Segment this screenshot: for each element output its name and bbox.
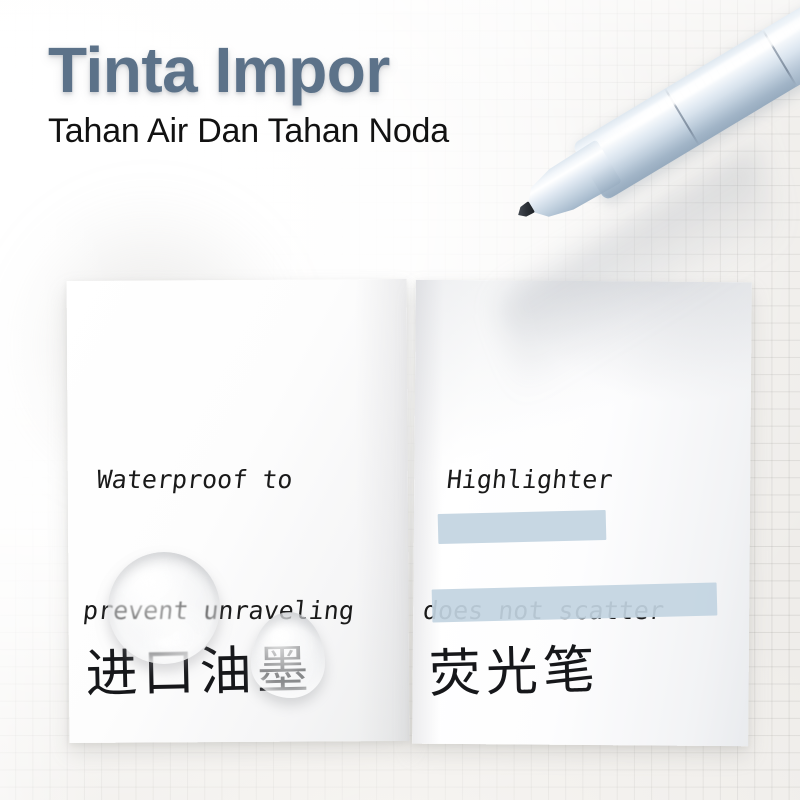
pen-tip <box>515 201 535 220</box>
pen-seam-ring-back <box>762 29 798 87</box>
pen-barrel <box>572 0 800 201</box>
pen-underside-shading <box>590 0 800 201</box>
pen-gloss-highlight <box>586 0 800 155</box>
right-page-chinese-line-1: 荧光笔 <box>428 631 715 713</box>
left-page-chinese-text: 进口油墨 防水防晕染 <box>82 485 379 800</box>
pen-grip-section <box>762 0 800 87</box>
headline-block: Tinta Impor Tahan Air Dan Tahan Noda <box>48 38 449 148</box>
pen-cone <box>514 139 622 231</box>
product-poster: Tinta Impor Tahan Air Dan Tahan Noda Wat… <box>0 0 800 800</box>
gel-pen <box>503 0 800 245</box>
pen-seam-ring-front <box>664 88 700 146</box>
right-page-chinese-text: 荧光笔 刷字不晕染 <box>424 483 725 800</box>
page-title: Tinta Impor <box>48 38 449 102</box>
left-page-chinese-line-1: 进口油墨 <box>85 633 371 713</box>
page-subtitle: Tahan Air Dan Tahan Noda <box>48 114 449 148</box>
